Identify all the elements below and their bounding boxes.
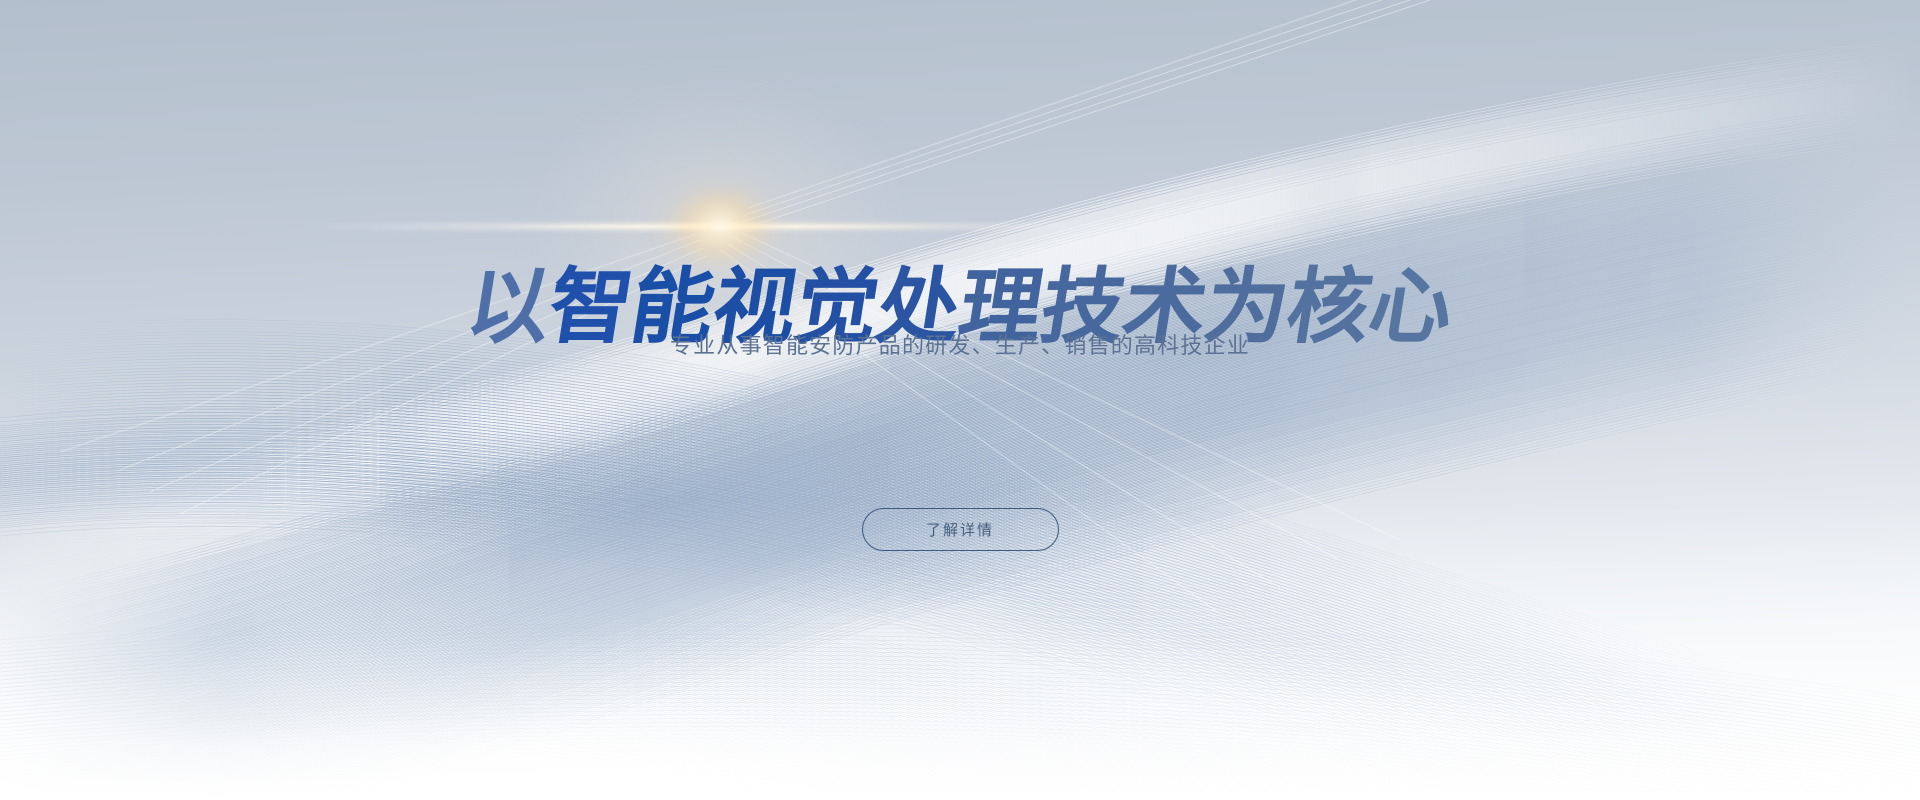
learn-more-button[interactable]: 了解详情 (862, 508, 1059, 551)
page-subtitle: 专业从事智能安防产品的研发、生产、销售的高科技企业 (0, 330, 1920, 362)
hero-banner: 以智能视觉处理技术为核心 专业从事智能安防产品的研发、生产、销售的高科技企业 了… (0, 0, 1920, 800)
cta-container: 了解详情 (0, 508, 1920, 551)
hero-content: 以智能视觉处理技术为核心 专业从事智能安防产品的研发、生产、销售的高科技企业 了… (0, 0, 1920, 800)
